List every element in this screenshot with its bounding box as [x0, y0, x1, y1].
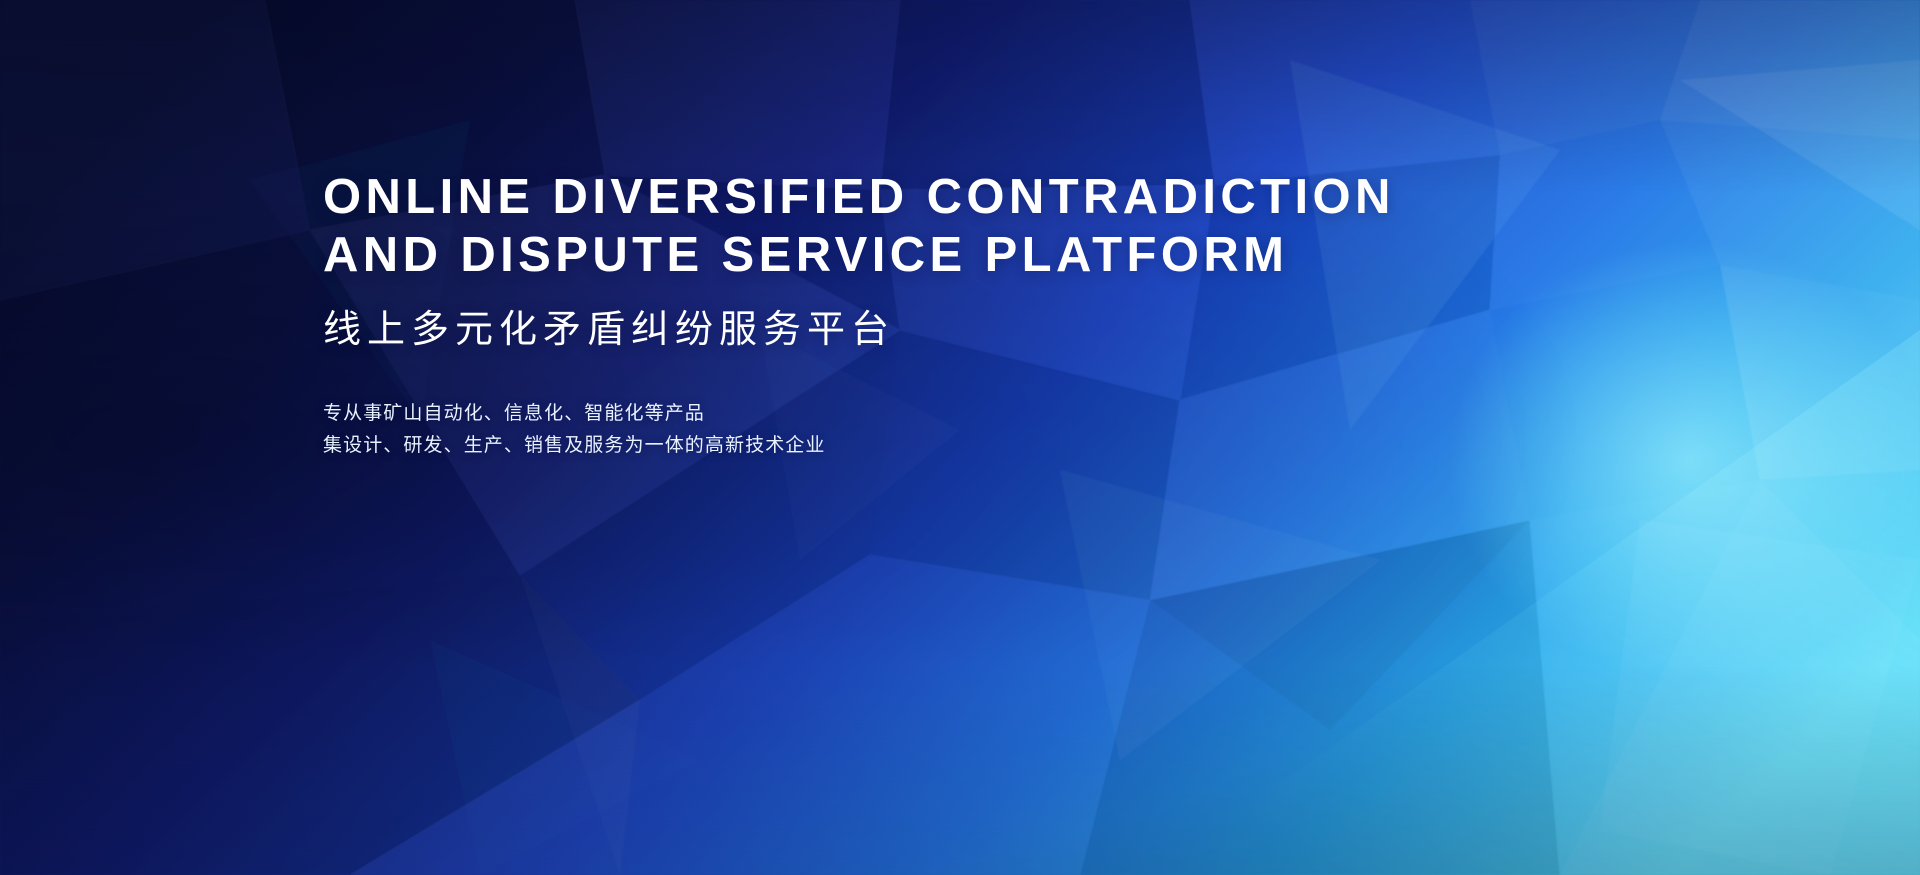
banner-content: ONLINE DIVERSIFIED CONTRADICTION AND DIS… [323, 168, 1663, 462]
hero-banner: ONLINE DIVERSIFIED CONTRADICTION AND DIS… [0, 0, 1920, 875]
heading-line-1: ONLINE DIVERSIFIED CONTRADICTION [323, 170, 1395, 224]
subtitle-chinese: 线上多元化矛盾纠纷服务平台 [323, 307, 1663, 353]
description-line-1: 专从事矿山自动化、信息化、智能化等产品 [323, 398, 1663, 430]
heading-line-2: AND DISPUTE SERVICE PLATFORM [323, 228, 1288, 282]
page-title: ONLINE DIVERSIFIED CONTRADICTION AND DIS… [323, 168, 1663, 284]
description-block: 专从事矿山自动化、信息化、智能化等产品 集设计、研发、生产、销售及服务为一体的高… [323, 398, 1663, 462]
description-line-2: 集设计、研发、生产、销售及服务为一体的高新技术企业 [323, 430, 1663, 462]
